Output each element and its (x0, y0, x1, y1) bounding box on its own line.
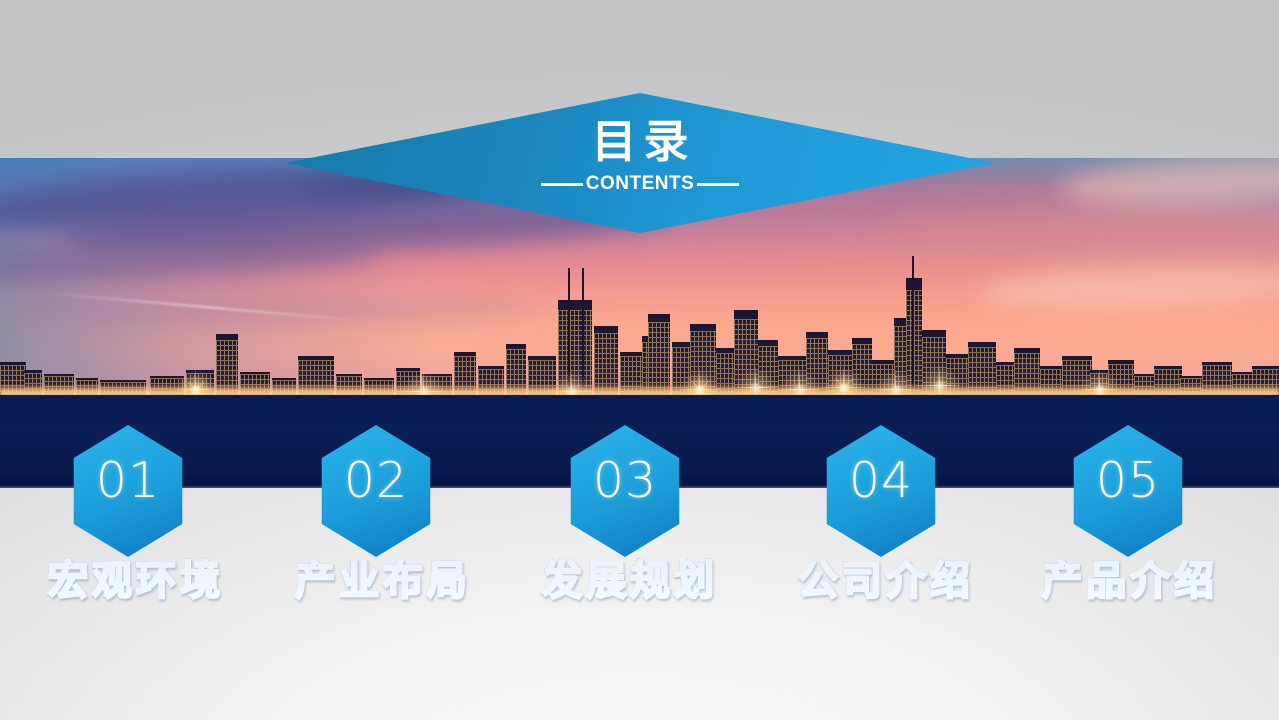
content-item-03[interactable]: 03 (566, 425, 684, 557)
item-number: 02 (317, 456, 435, 505)
content-item-04[interactable]: 04 (822, 425, 940, 557)
item-number: 03 (566, 456, 684, 505)
item-label-03[interactable]: 发展规划 (538, 556, 718, 606)
page-title: 目录 (285, 119, 995, 164)
item-number: 05 (1069, 456, 1187, 505)
item-label-01[interactable]: 宏观环境 (44, 556, 224, 606)
presentation-slide: 目录 CONTENTS 01 02 03 04 05 宏观环境 产业布局 发展规… (0, 0, 1279, 720)
item-number: 01 (69, 456, 187, 505)
item-label-04[interactable]: 公司介绍 (794, 556, 974, 606)
item-label-05[interactable]: 产品介绍 (1038, 556, 1218, 606)
item-label-02[interactable]: 产业布局 (291, 556, 471, 606)
rule-right-icon (697, 183, 739, 186)
item-number: 04 (822, 456, 940, 505)
content-item-05[interactable]: 05 (1069, 425, 1187, 557)
rule-left-icon (541, 183, 583, 186)
page-subtitle-text: CONTENTS (586, 173, 695, 195)
content-item-02[interactable]: 02 (317, 425, 435, 557)
content-item-01[interactable]: 01 (69, 425, 187, 557)
